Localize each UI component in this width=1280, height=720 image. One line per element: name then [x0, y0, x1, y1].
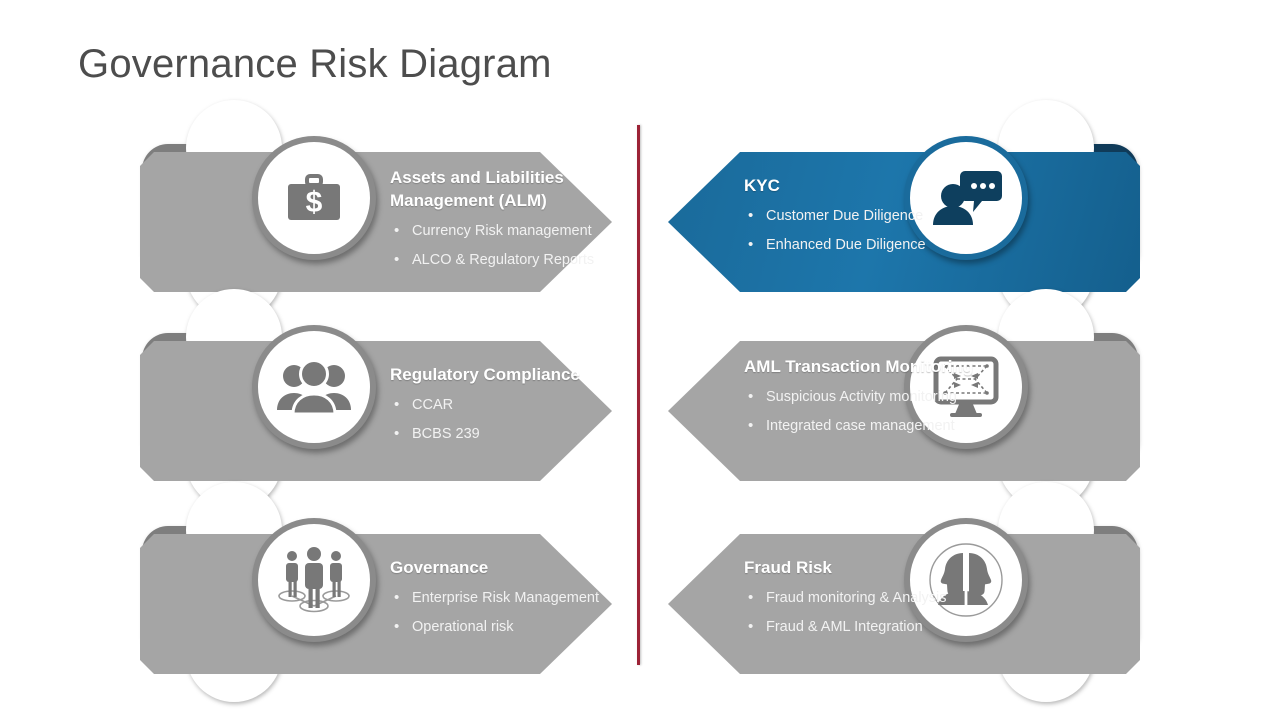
list-item: BCBS 239	[390, 423, 654, 445]
card-title: AML Transaction Monitoring	[744, 355, 1008, 378]
list-item: Fraud & AML Integration	[744, 616, 1008, 638]
list-item: Enhanced Due Diligence	[744, 234, 1008, 256]
card-bullets: Currency Risk management ALCO & Regulato…	[390, 220, 654, 271]
list-item: Suspicious Activity monitoring	[744, 386, 1008, 408]
card-text: KYC Customer Due Diligence Enhanced Due …	[744, 174, 1008, 262]
card-text: Fraud Risk Fraud monitoring & Analysis F…	[744, 556, 1008, 644]
card-kyc[interactable]: KYC Customer Due Diligence Enhanced Due …	[666, 136, 1140, 284]
list-item: Integrated case management	[744, 415, 1008, 437]
card-bullets: CCAR BCBS 239	[390, 394, 654, 445]
list-item: Fraud monitoring & Analysis	[744, 587, 1008, 609]
card-title: Assets and Liabilities Management (ALM)	[390, 166, 654, 212]
card-fraud-risk[interactable]: Fraud Risk Fraud monitoring & Analysis F…	[666, 518, 1140, 666]
list-item: Operational risk	[390, 616, 654, 638]
page-title: Governance Risk Diagram	[78, 42, 552, 87]
card-title: Regulatory Compliance	[390, 363, 654, 386]
card-alm[interactable]: $ Assets and Liabilities Management (ALM…	[140, 136, 614, 284]
briefcase-dollar-icon: $	[252, 136, 376, 260]
card-bullets: Enterprise Risk Management Operational r…	[390, 587, 654, 638]
list-item: ALCO & Regulatory Reports	[390, 249, 654, 271]
card-governance[interactable]: Governance Enterprise Risk Management Op…	[140, 518, 614, 666]
list-item: CCAR	[390, 394, 654, 416]
people-group-icon	[252, 325, 376, 449]
card-regulatory-compliance[interactable]: Regulatory Compliance CCAR BCBS 239	[140, 325, 614, 473]
card-bullets: Suspicious Activity monitoring Integrate…	[744, 386, 1008, 437]
list-item: Enterprise Risk Management	[390, 587, 654, 609]
card-bullets: Customer Due Diligence Enhanced Due Dili…	[744, 205, 1008, 256]
card-title: Fraud Risk	[744, 556, 1008, 579]
card-text: AML Transaction Monitoring Suspicious Ac…	[744, 355, 1008, 443]
list-item: Currency Risk management	[390, 220, 654, 242]
three-people-network-icon	[252, 518, 376, 642]
card-aml-transaction-monitoring[interactable]: AML Transaction Monitoring Suspicious Ac…	[666, 325, 1140, 473]
card-text: Governance Enterprise Risk Management Op…	[390, 556, 654, 644]
card-text: Regulatory Compliance CCAR BCBS 239	[390, 363, 654, 451]
list-item: Customer Due Diligence	[744, 205, 1008, 227]
card-bullets: Fraud monitoring & Analysis Fraud & AML …	[744, 587, 1008, 638]
svg-text:$: $	[306, 186, 323, 219]
card-text: Assets and Liabilities Management (ALM) …	[390, 166, 654, 277]
card-title: Governance	[390, 556, 654, 579]
card-title: KYC	[744, 174, 1008, 197]
